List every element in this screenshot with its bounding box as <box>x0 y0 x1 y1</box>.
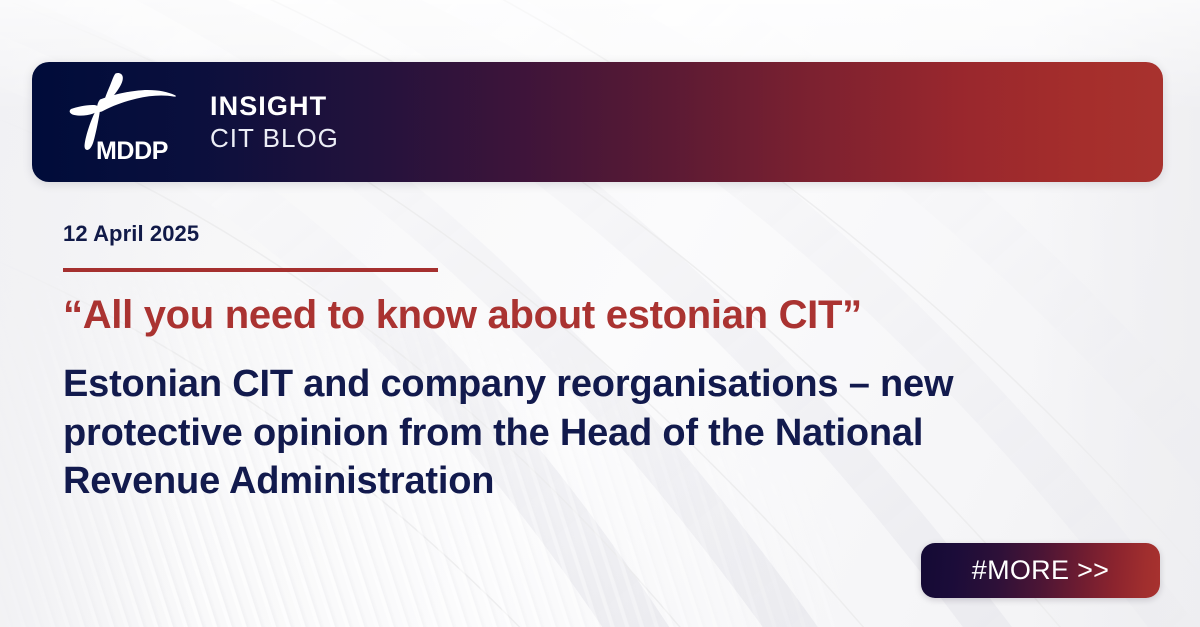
article-headline: Estonian CIT and company reorganisations… <box>63 360 993 506</box>
mddp-logo[interactable]: MDDP <box>68 72 180 172</box>
article-date: 12 April 2025 <box>63 222 1063 246</box>
date-divider <box>63 268 438 272</box>
insight-blog-card: MDDP INSIGHT CIT BLOG 12 April 2025 “All… <box>0 0 1200 627</box>
banner-kicker: INSIGHT <box>210 92 339 121</box>
more-button[interactable]: #MORE >> <box>921 543 1160 598</box>
mddp-wordmark: MDDP <box>96 139 168 164</box>
insight-header-banner: MDDP INSIGHT CIT BLOG <box>32 62 1163 182</box>
series-quote: “All you need to know about estonian CIT… <box>63 292 1063 338</box>
banner-subtitle: CIT BLOG <box>210 125 339 153</box>
article-block: 12 April 2025 “All you need to know abou… <box>63 222 1063 506</box>
banner-title-block: INSIGHT CIT BLOG <box>210 92 339 152</box>
